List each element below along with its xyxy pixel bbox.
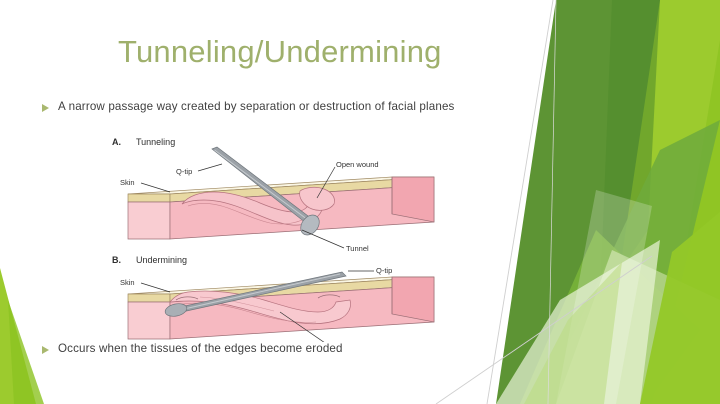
facet-shape-right-bright [596,0,720,404]
facet-shape-dark-wedge-2 [600,0,660,300]
facet-shape-mid-band-2 [520,230,700,404]
panel-b-qtip-label: Q-tip [376,266,392,275]
bullet-1-text: A narrow passage way created by separati… [58,99,455,114]
panel-a-tunneling: A. Tunneling [112,137,434,253]
facet-shape-mid-band [540,120,720,404]
panel-a-open-wound-label: Open wound [336,160,379,169]
panel-a-tunnel-label: Tunnel [346,244,369,253]
facet-shape-pale-overlay-2 [496,240,660,404]
facet-shape-lower-right-bright [640,212,720,404]
tunneling-undermining-figure: A. Tunneling [104,132,454,342]
facet-shape-pale-overlay-1 [556,250,720,404]
panel-b-caption: Undermining [136,255,187,265]
panel-a-qtip-leader [198,164,222,171]
panel-b-skin-front-band [128,294,170,302]
panel-a-skin-leader [141,183,170,192]
facet-hairline-3 [548,0,556,404]
slide-canvas: Tunneling/Undermining A narrow passage w… [0,0,720,404]
panel-a-caption: Tunneling [136,137,175,147]
panel-b-letter: B. [112,255,121,265]
facet-shape-bottom-left [0,268,36,404]
panel-a-tissue-front [128,202,170,239]
panel-a-tunnel-leader [302,230,344,248]
panel-b-tissue-front [128,302,170,339]
facet-shape-bottom-left-2 [8,300,44,404]
triangle-bullet-icon [42,104,49,112]
bullet-item-1: A narrow passage way created by separati… [42,99,455,114]
panel-a-qtip-label: Q-tip [176,167,192,176]
panel-b-skin-leader [141,283,170,292]
bullet-item-2: Occurs when the tissues of the edges bec… [42,341,343,356]
facet-hairline-2 [436,256,652,404]
panel-b-skin-label: Skin [120,278,135,287]
page-title: Tunneling/Undermining [118,32,538,72]
panel-b-undermining: B. Undermining [112,255,434,342]
panel-a-tissue-end-face [392,177,434,222]
triangle-bullet-icon [42,346,49,354]
bullet-2-text: Occurs when the tissues of the edges bec… [58,341,343,356]
panel-a-skin-label: Skin [120,178,135,187]
facet-shape-pale-overlay-3 [556,190,652,404]
facet-shape-light-green-left [524,262,622,404]
facet-shape-right-lime [660,40,720,404]
panel-a-skin-front-band [128,194,170,202]
panel-b-tissue-end-face [392,277,434,322]
panel-a-letter: A. [112,137,121,147]
